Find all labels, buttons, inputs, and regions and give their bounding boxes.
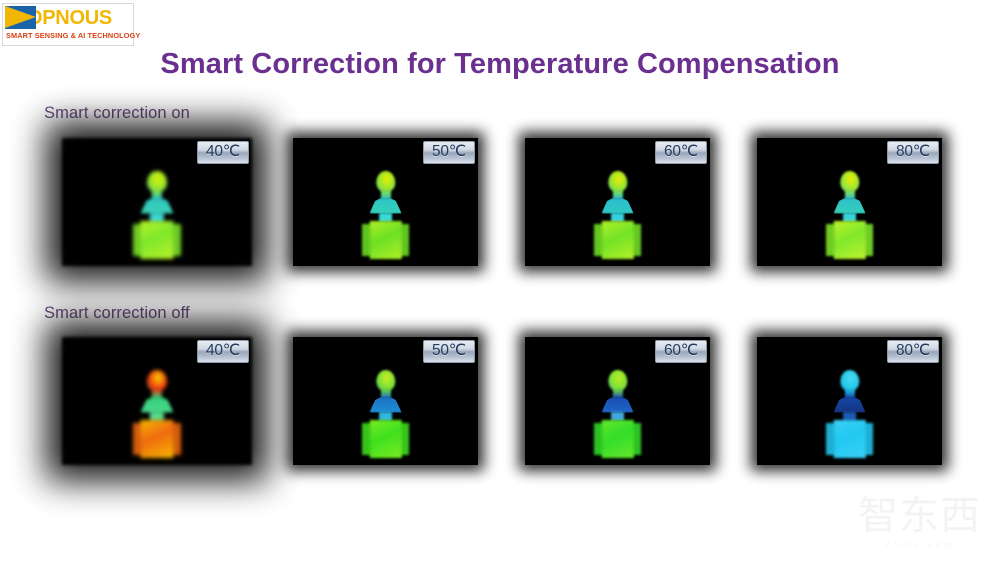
page-title: Smart Correction for Temperature Compens… (0, 48, 1000, 81)
figure-pedestal (833, 420, 865, 458)
figure-head (376, 171, 395, 192)
temperature-badge: 50℃ (423, 141, 475, 164)
figure-head (608, 370, 627, 391)
temperature-badge: 40℃ (197, 340, 249, 363)
watermark-subtext: zhidx.com (858, 539, 982, 549)
figure-pedestal (601, 221, 633, 259)
brand-logo: OPNOUS SMART SENSING & AI TECHNOLOGY (2, 3, 134, 46)
thermal-panel[interactable]: 60℃ (525, 337, 710, 465)
brand-logo-row: OPNOUS (3, 4, 133, 31)
figure-shoulders (369, 198, 401, 214)
figure-head (840, 370, 859, 391)
figure-head (840, 171, 859, 192)
figure-shoulders (140, 198, 173, 214)
figure-pedestal (140, 221, 173, 259)
figure-shoulders (601, 397, 633, 413)
temperature-badge: 60℃ (655, 340, 707, 363)
figure-shoulders (601, 198, 633, 214)
figure-head (608, 171, 627, 192)
temperature-badge: 80℃ (887, 141, 939, 164)
watermark: 智东西 zhidx.com (858, 496, 982, 549)
slide-root: { "brand": { "name": "OPNOUS", "tagline"… (0, 0, 1000, 563)
thermal-panel[interactable]: 40℃ (62, 138, 252, 266)
thermal-panel[interactable]: 50℃ (293, 337, 478, 465)
temperature-badge: 50℃ (423, 340, 475, 363)
temperature-badge: 60℃ (655, 141, 707, 164)
thermal-panel[interactable]: 40℃ (62, 337, 252, 465)
figure-pedestal (140, 420, 173, 458)
figure-head (147, 171, 167, 192)
brand-tagline: SMART SENSING & AI TECHNOLOGY (3, 31, 136, 40)
figure-head (376, 370, 395, 391)
thermal-panel[interactable]: 50℃ (293, 138, 478, 266)
figure-pedestal (833, 221, 865, 259)
figure-pedestal (601, 420, 633, 458)
brand-name: OPNOUS (27, 8, 112, 28)
figure-shoulders (369, 397, 401, 413)
figure-head (147, 370, 167, 391)
opnous-wedge-logo-icon (5, 6, 36, 29)
thermal-panel[interactable]: 80℃ (757, 337, 942, 465)
figure-shoulders (833, 397, 865, 413)
figure-pedestal (369, 221, 401, 259)
figure-pedestal (369, 420, 401, 458)
row-label-correction-on: Smart correction on (44, 104, 190, 123)
thermal-panel[interactable]: 80℃ (757, 138, 942, 266)
figure-shoulders (833, 198, 865, 214)
thermal-panel[interactable]: 60℃ (525, 138, 710, 266)
temperature-badge: 80℃ (887, 340, 939, 363)
temperature-badge: 40℃ (197, 141, 249, 164)
figure-shoulders (140, 397, 173, 413)
watermark-glyphs: 智东西 (858, 496, 982, 536)
